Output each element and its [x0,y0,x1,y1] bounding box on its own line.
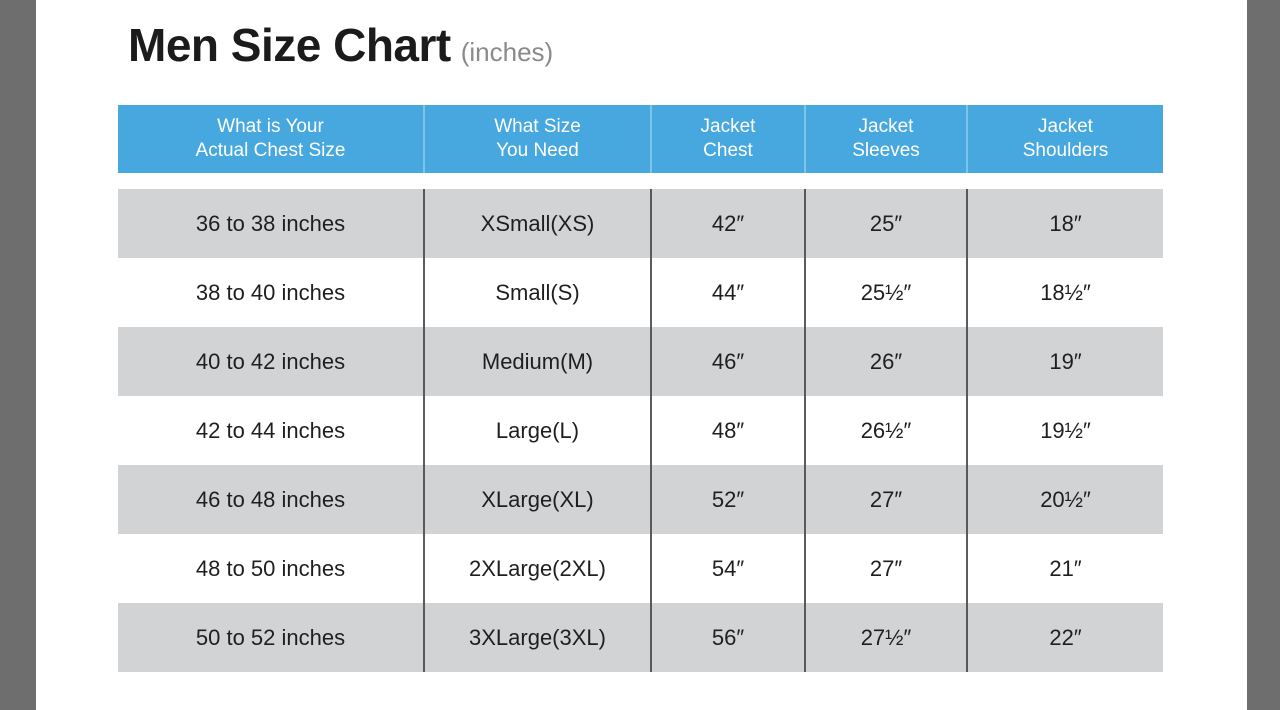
cell-jacket-chest: 48″ [652,396,806,465]
cell-jacket-chest: 42″ [652,189,806,258]
cell-size-label: Medium(M) [425,327,652,396]
column-header-chest-size: What is Your Actual Chest Size [118,105,425,173]
letterbox-left [0,0,36,710]
table-row: 46 to 48 inches XLarge(XL) 52″ 27″ 20½″ [118,465,1163,534]
column-header-line2: Shoulders [1023,140,1109,161]
cell-jacket-sleeves: 27″ [806,534,968,603]
page-title: Men Size Chart (inches) [128,22,553,68]
cell-chest-range: 36 to 38 inches [118,189,425,258]
table-row: 38 to 40 inches Small(S) 44″ 25½″ 18½″ [118,258,1163,327]
table-header-row: What is Your Actual Chest Size What Size… [118,105,1163,173]
letterbox-right [1247,0,1280,710]
column-header-line1: Jacket [1038,116,1093,137]
cell-jacket-sleeves: 25½″ [806,258,968,327]
cell-size-label: Large(L) [425,396,652,465]
table-row: 50 to 52 inches 3XLarge(3XL) 56″ 27½″ 22… [118,603,1163,672]
cell-jacket-sleeves: 27½″ [806,603,968,672]
size-chart-table: What is Your Actual Chest Size What Size… [118,105,1163,672]
cell-size-label: XLarge(XL) [425,465,652,534]
cell-jacket-chest: 54″ [652,534,806,603]
page-title-unit: (inches) [461,39,553,65]
cell-chest-range: 38 to 40 inches [118,258,425,327]
cell-size-label: 2XLarge(2XL) [425,534,652,603]
cell-chest-range: 48 to 50 inches [118,534,425,603]
cell-jacket-chest: 44″ [652,258,806,327]
table-row: 42 to 44 inches Large(L) 48″ 26½″ 19½″ [118,396,1163,465]
cell-jacket-sleeves: 26½″ [806,396,968,465]
cell-jacket-chest: 56″ [652,603,806,672]
cell-chest-range: 42 to 44 inches [118,396,425,465]
cell-size-label: XSmall(XS) [425,189,652,258]
column-header-line2: You Need [496,140,579,161]
column-header-jacket-sleeves: Jacket Sleeves [806,105,968,173]
column-header-line2: Chest [703,140,753,161]
cell-jacket-shoulders: 19½″ [968,396,1163,465]
cell-size-label: Small(S) [425,258,652,327]
page-title-main: Men Size Chart [128,22,451,68]
cell-jacket-chest: 46″ [652,327,806,396]
cell-chest-range: 50 to 52 inches [118,603,425,672]
column-header-size-needed: What Size You Need [425,105,652,173]
cell-jacket-shoulders: 20½″ [968,465,1163,534]
column-header-jacket-chest: Jacket Chest [652,105,806,173]
slide-canvas: Men Size Chart (inches) What is Your Act… [36,0,1247,710]
column-header-line1: Jacket [859,116,914,137]
cell-jacket-shoulders: 19″ [968,327,1163,396]
cell-jacket-shoulders: 21″ [968,534,1163,603]
column-header-line2: Actual Chest Size [196,140,346,161]
cell-jacket-sleeves: 27″ [806,465,968,534]
cell-jacket-shoulders: 22″ [968,603,1163,672]
column-header-line1: What is Your [217,116,324,137]
cell-jacket-chest: 52″ [652,465,806,534]
cell-jacket-shoulders: 18½″ [968,258,1163,327]
cell-jacket-sleeves: 25″ [806,189,968,258]
cell-chest-range: 40 to 42 inches [118,327,425,396]
table-row: 48 to 50 inches 2XLarge(2XL) 54″ 27″ 21″ [118,534,1163,603]
table-row: 36 to 38 inches XSmall(XS) 42″ 25″ 18″ [118,189,1163,258]
column-header-jacket-shoulders: Jacket Shoulders [968,105,1163,173]
cell-jacket-shoulders: 18″ [968,189,1163,258]
cell-size-label: 3XLarge(3XL) [425,603,652,672]
cell-jacket-sleeves: 26″ [806,327,968,396]
table-row: 40 to 42 inches Medium(M) 46″ 26″ 19″ [118,327,1163,396]
column-header-line2: Sleeves [852,140,920,161]
column-header-line1: Jacket [701,116,756,137]
cell-chest-range: 46 to 48 inches [118,465,425,534]
column-header-line1: What Size [494,116,581,137]
